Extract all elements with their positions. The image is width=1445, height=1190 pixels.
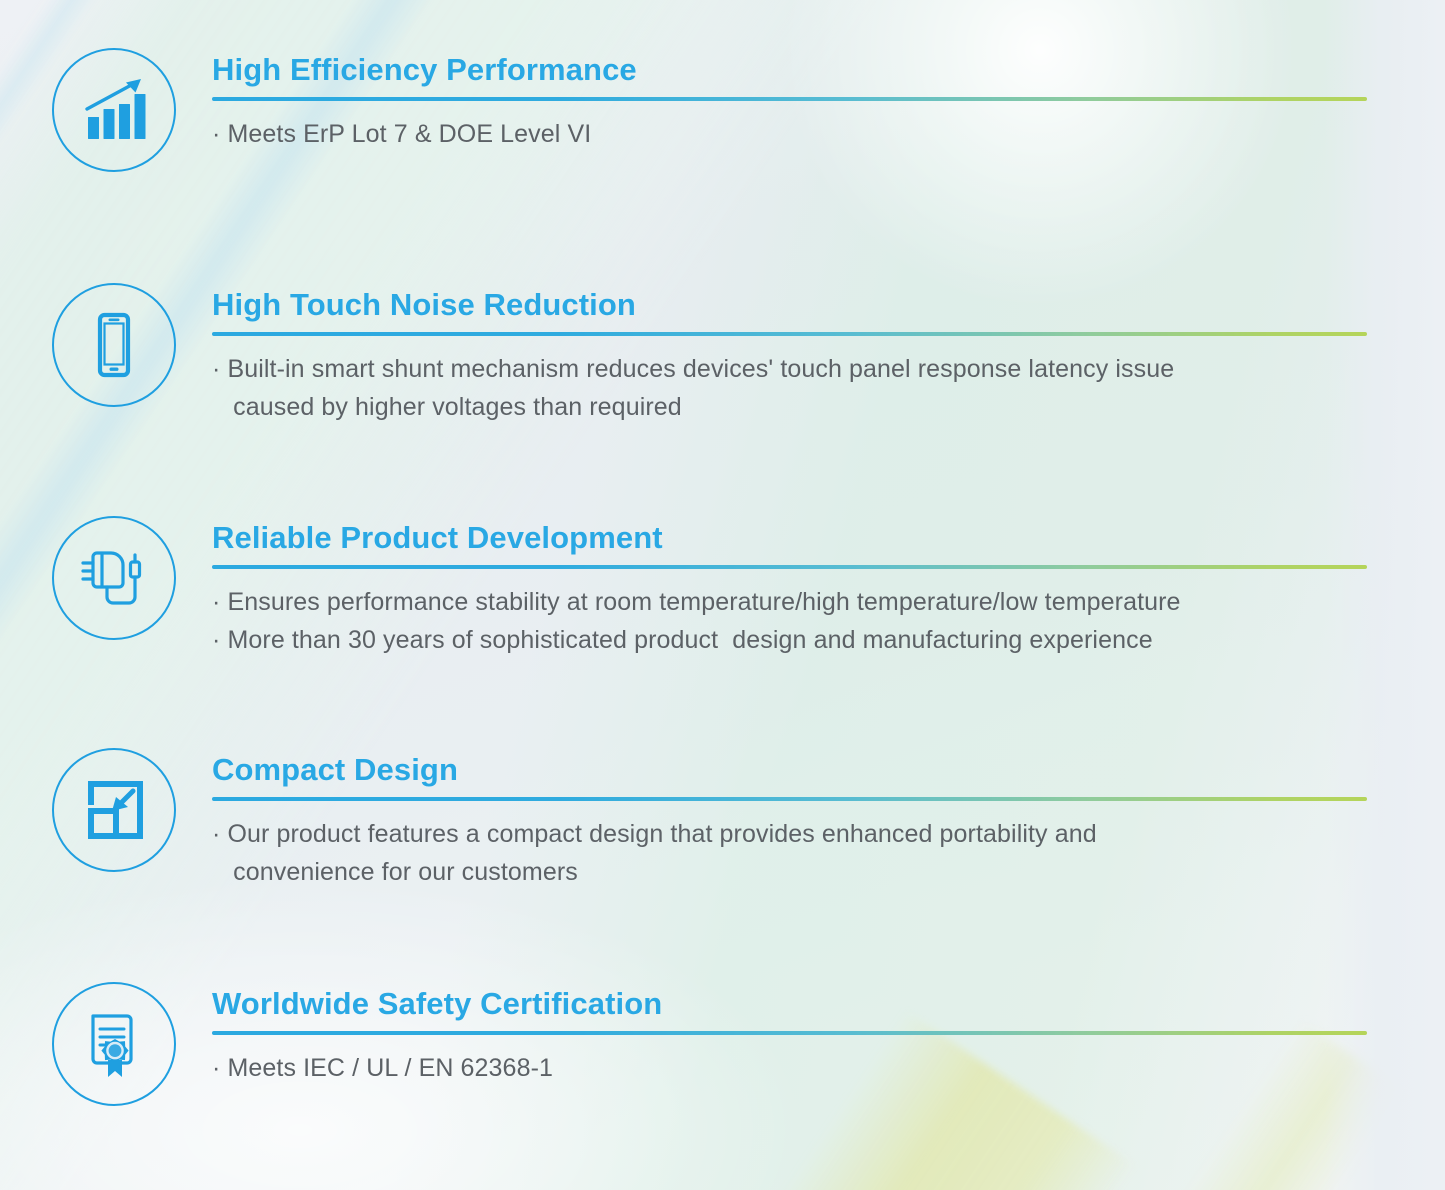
feature-divider [212, 97, 1367, 101]
certificate-seal-icon [52, 982, 176, 1106]
feature-item-worldwide-safety-certification: Worldwide Safety Certification · Meets I… [52, 982, 1372, 1106]
feature-body: High Touch Noise Reduction · Built-in sm… [212, 283, 1372, 426]
feature-item-compact-design: Compact Design · Our product features a … [52, 748, 1372, 891]
feature-title: Reliable Product Development [212, 522, 1372, 555]
feature-divider [212, 1031, 1367, 1035]
feature-bullet: · Meets ErP Lot 7 & DOE Level VI [212, 115, 1372, 153]
feature-bullets: · Our product features a compact design … [212, 815, 1372, 891]
smartphone-icon [52, 283, 176, 407]
feature-divider [212, 565, 1367, 569]
feature-title: High Efficiency Performance [212, 54, 1372, 87]
feature-list: High Efficiency Performance · Meets ErP … [0, 0, 1445, 1190]
feature-bullet: · Our product features a compact design … [212, 815, 1372, 891]
feature-body: Worldwide Safety Certification · Meets I… [212, 982, 1372, 1087]
compact-resize-icon [52, 748, 176, 872]
feature-bullet: · Ensures performance stability at room … [212, 583, 1372, 621]
feature-bullets: · Meets ErP Lot 7 & DOE Level VI [212, 115, 1372, 153]
feature-bullet: · Meets IEC / UL / EN 62368-1 [212, 1049, 1372, 1087]
feature-highlights-page: High Efficiency Performance · Meets ErP … [0, 0, 1445, 1190]
feature-bullets: · Ensures performance stability at room … [212, 583, 1372, 659]
feature-body: High Efficiency Performance · Meets ErP … [212, 48, 1372, 153]
feature-item-reliable-product-development: Reliable Product Development · Ensures p… [52, 516, 1372, 659]
bar-chart-growth-icon [52, 48, 176, 172]
feature-divider [212, 797, 1367, 801]
feature-item-high-touch-noise-reduction: High Touch Noise Reduction · Built-in sm… [52, 283, 1372, 426]
power-adapter-icon [52, 516, 176, 640]
feature-body: Compact Design · Our product features a … [212, 748, 1372, 891]
feature-item-high-efficiency-performance: High Efficiency Performance · Meets ErP … [52, 48, 1372, 172]
feature-bullets: · Meets IEC / UL / EN 62368-1 [212, 1049, 1372, 1087]
feature-title: Worldwide Safety Certification [212, 988, 1372, 1021]
feature-bullet: · Built-in smart shunt mechanism reduces… [212, 350, 1372, 426]
feature-bullets: · Built-in smart shunt mechanism reduces… [212, 350, 1372, 426]
feature-title: Compact Design [212, 754, 1372, 787]
feature-body: Reliable Product Development · Ensures p… [212, 516, 1372, 659]
feature-bullet: · More than 30 years of sophisticated pr… [212, 621, 1372, 659]
feature-divider [212, 332, 1367, 336]
feature-title: High Touch Noise Reduction [212, 289, 1372, 322]
